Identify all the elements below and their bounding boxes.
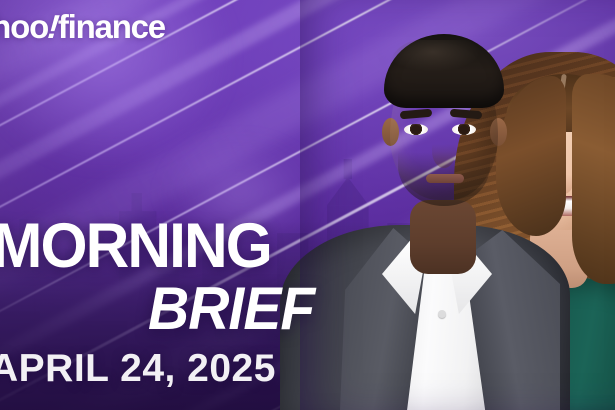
logo-text: ahoo (0, 8, 48, 45)
episode-date: APRIL 24, 2025 (0, 347, 276, 391)
male-hair (384, 34, 504, 108)
male-eye-right (452, 124, 476, 135)
title-line-morning: MORNING (0, 218, 271, 276)
title-line-brief: BRIEF (148, 281, 314, 336)
female-hair-front-right (572, 74, 615, 284)
male-anchor (318, 14, 568, 410)
logo-suffix: finance (58, 8, 165, 45)
male-neck (410, 200, 476, 274)
male-mouth (426, 174, 464, 183)
male-eye-left (404, 124, 428, 135)
male-shirt-button (438, 310, 446, 318)
morning-brief-thumbnail: ahoo!finance MORNING BRIEF APRIL 24, 202… (0, 0, 615, 410)
yahoo-finance-logo: ahoo!finance (0, 8, 165, 46)
male-nose (432, 134, 456, 168)
